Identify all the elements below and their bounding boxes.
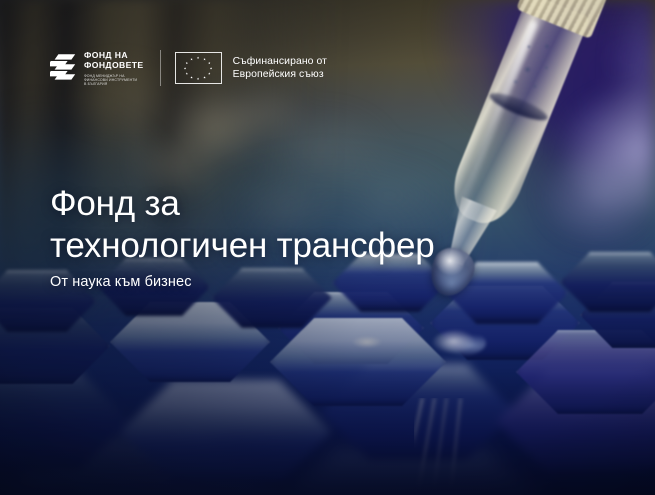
- eu-star: [203, 58, 206, 61]
- logo-divider: [160, 50, 161, 86]
- eu-star: [184, 67, 187, 70]
- eu-star: [186, 62, 189, 65]
- fund-of-funds-descriptor: ФОНД МЕНИДЖЪР НА ФИНАНСОВИ ИНСТРУМЕНТИ В…: [84, 74, 144, 87]
- fund-of-funds-name: ФОНД НА ФОНДОВЕТЕ: [84, 50, 144, 71]
- eu-star: [190, 76, 193, 79]
- eu-star: [208, 62, 211, 65]
- eu-star: [208, 72, 211, 75]
- eu-cofunding-text: Съфинансирано от Европейския съюз: [233, 55, 327, 82]
- page-title: Фонд за технологичен трансфер: [50, 183, 435, 267]
- eu-star: [210, 67, 213, 70]
- eu-star: [197, 57, 200, 60]
- logo-bar: ФОНД НА ФОНДОВЕТЕ ФОНД МЕНИДЖЪР НА ФИНАН…: [50, 50, 327, 87]
- fund-of-funds-text: ФОНД НА ФОНДОВЕТЕ ФОНД МЕНИДЖЪР НА ФИНАН…: [84, 50, 144, 87]
- banner-content: ФОНД НА ФОНДОВЕТЕ ФОНД МЕНИДЖЪР НА ФИНАН…: [0, 0, 655, 495]
- page-subtitle: От наука към бизнес: [50, 274, 192, 290]
- eu-flag-icon: [175, 52, 222, 84]
- fund-of-funds-logo: ФОНД НА ФОНДОВЕТЕ ФОНД МЕНИДЖЪР НА ФИНАН…: [50, 50, 144, 87]
- fund-of-funds-bars-icon: [50, 53, 76, 83]
- european-union-logo: Съфинансирано от Европейския съюз: [175, 52, 327, 84]
- eu-star: [197, 78, 200, 81]
- eu-star: [186, 72, 189, 75]
- hero-banner: ФОНД НА ФОНДОВЕТЕ ФОНД МЕНИДЖЪР НА ФИНАН…: [0, 0, 655, 495]
- eu-star: [190, 58, 193, 61]
- eu-star: [203, 76, 206, 79]
